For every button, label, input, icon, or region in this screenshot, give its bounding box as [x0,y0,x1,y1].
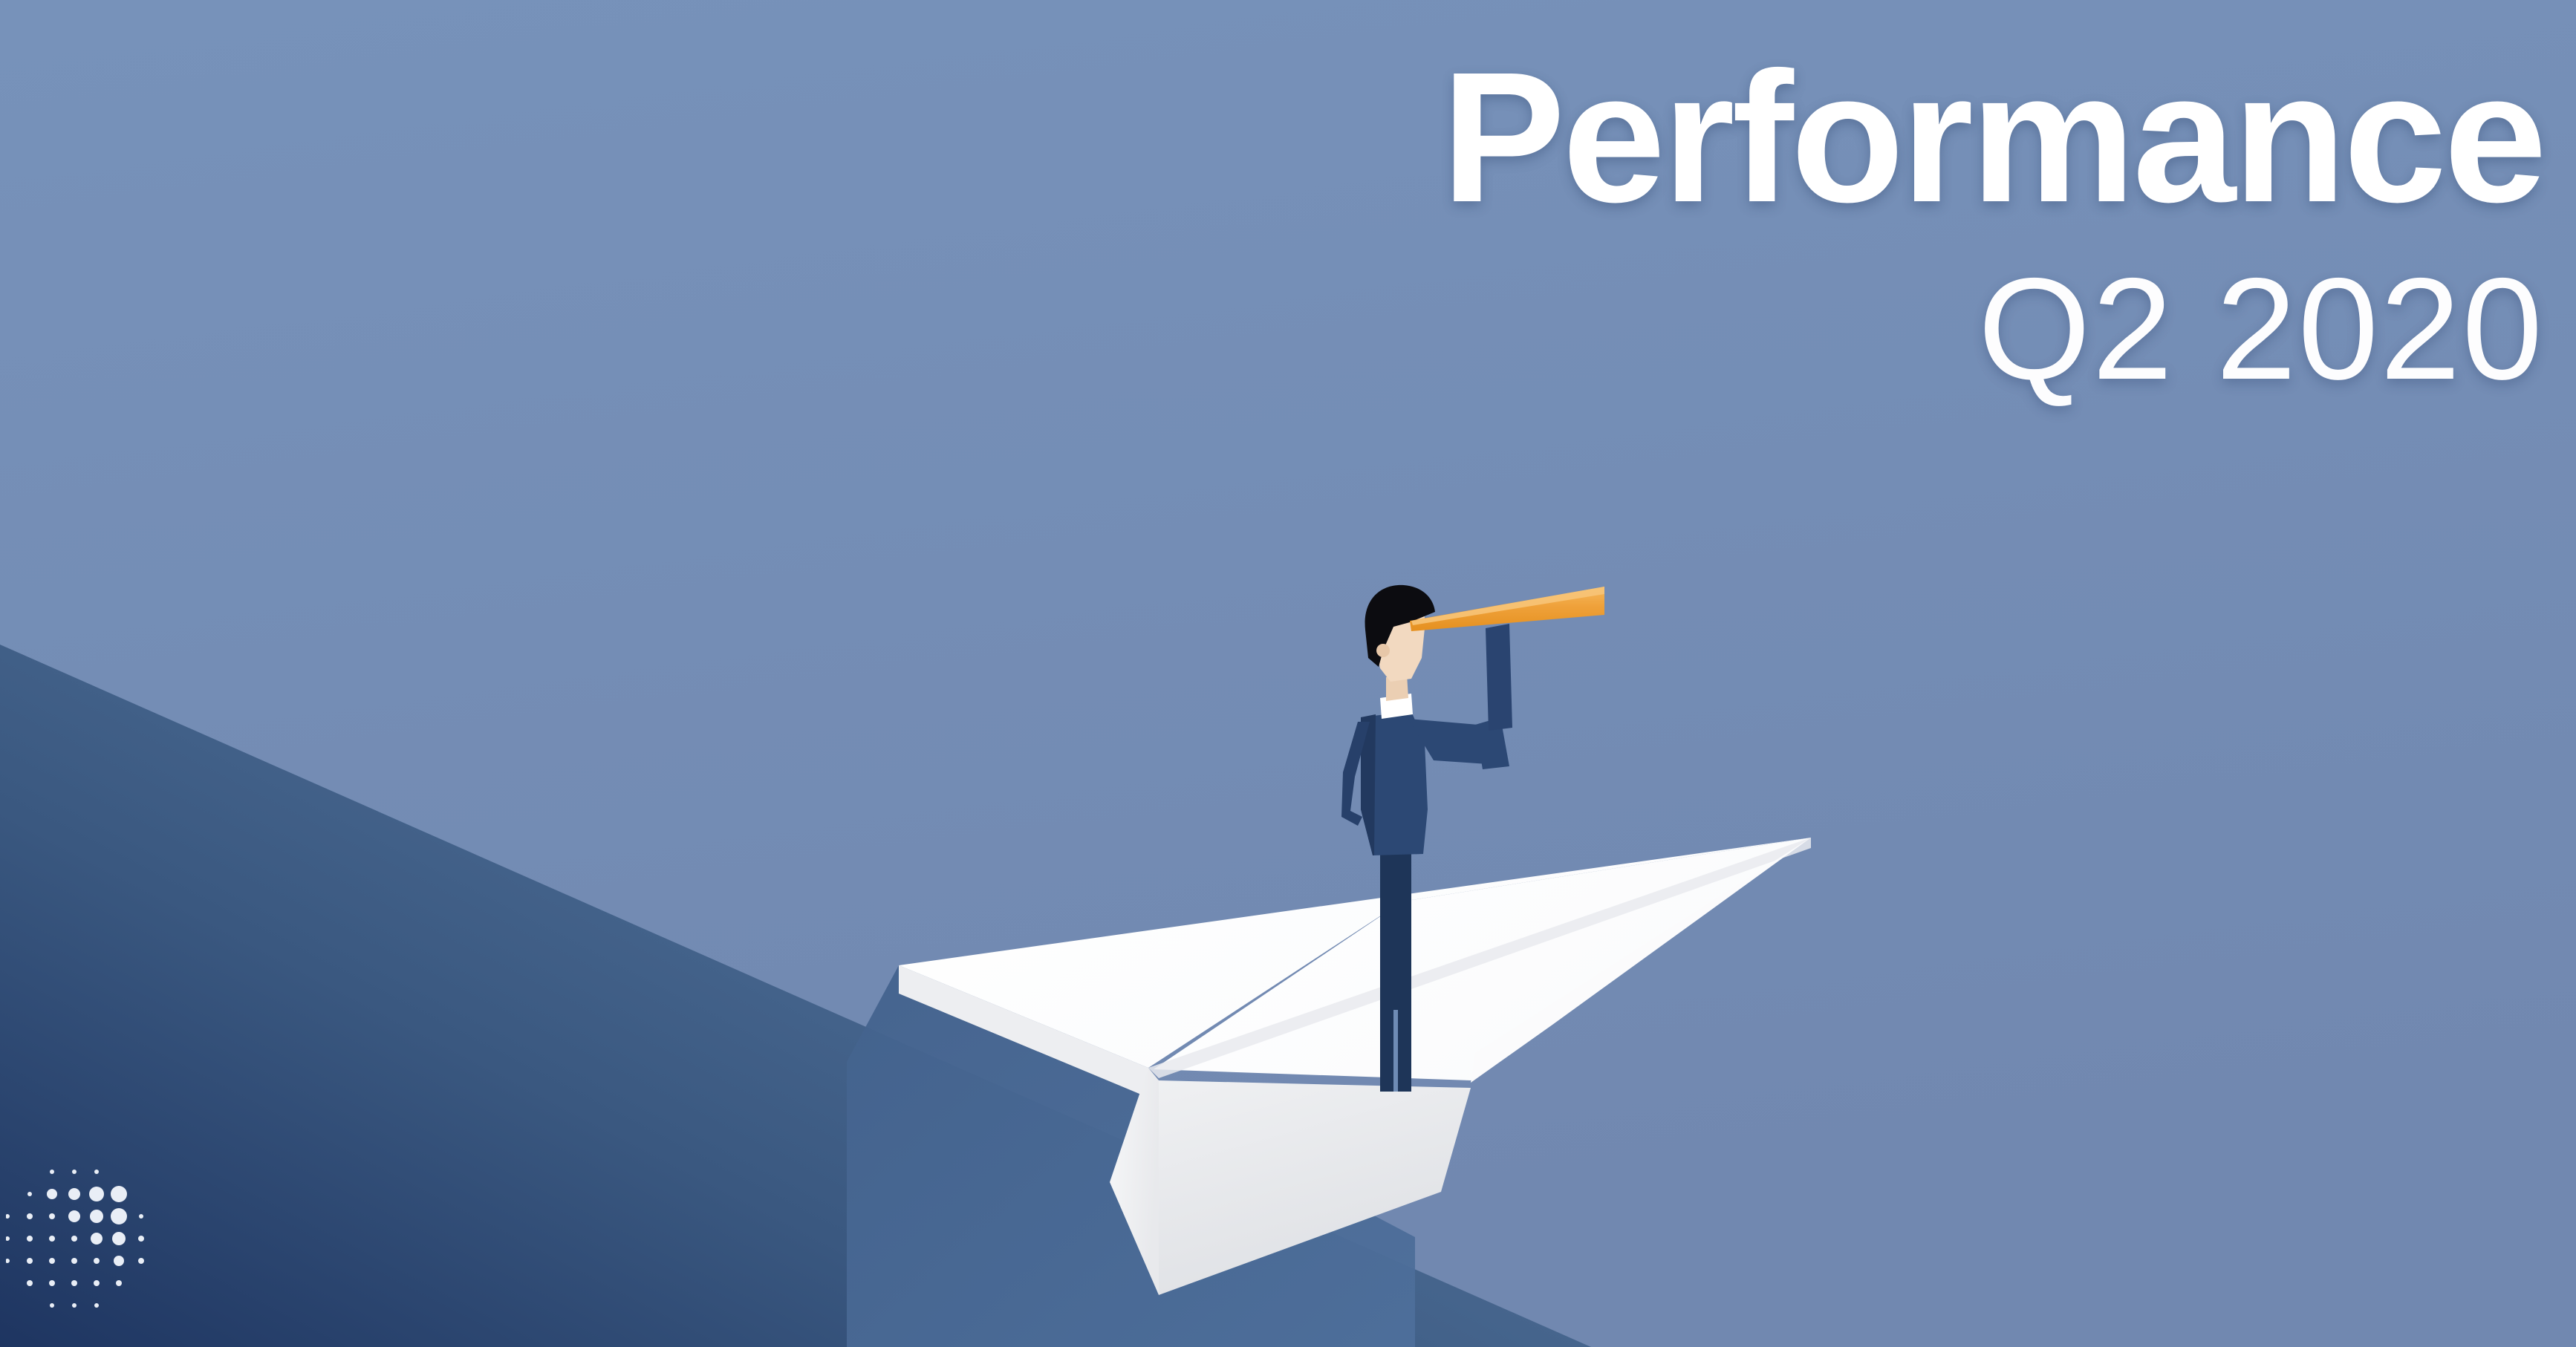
grid-dot [27,1280,33,1286]
grid-dot [49,1258,55,1264]
grid-dot [50,1170,54,1174]
figure-ear [1376,644,1390,657]
grid-dot [71,1258,77,1264]
decorative-dot-grid [6,1155,177,1326]
grid-dot [111,1208,127,1224]
page-title: Performance [1442,45,2544,230]
grid-dot [6,1214,10,1219]
grid-dot [112,1232,126,1245]
grid-dot [116,1280,122,1286]
presentation-slide: Performance Q2 2020 [0,0,2576,1347]
grid-dot [94,1303,99,1308]
grid-dot [71,1236,77,1242]
grid-dot [111,1186,127,1202]
grid-dot [94,1258,100,1264]
page-subtitle: Q2 2020 [1442,257,2544,402]
grid-dot [91,1233,103,1245]
grid-dot [72,1170,77,1174]
grid-dot [94,1170,99,1174]
grid-dot [114,1256,124,1266]
grid-dot [27,1258,33,1264]
grid-dot [90,1210,103,1223]
grid-dot [68,1188,80,1200]
grid-dot [27,1192,32,1196]
grid-dot [71,1280,77,1286]
slide-title-block: Performance Q2 2020 [1442,45,2544,402]
grid-dot [49,1236,55,1242]
grid-dot [6,1236,10,1241]
grid-dot [68,1210,80,1222]
grid-dot [139,1214,143,1219]
grid-dot [72,1303,77,1308]
figure-leg-split [1393,1010,1398,1092]
grid-dot [50,1303,54,1308]
grid-dot [49,1280,55,1286]
grid-dot [94,1280,100,1286]
grid-dot [138,1258,144,1264]
grid-dot [47,1189,57,1199]
figure-hand [1486,624,1512,731]
grid-dot [27,1236,33,1242]
grid-dot [27,1213,33,1219]
grid-dot [138,1236,144,1242]
grid-dot [6,1259,10,1263]
grid-dot [49,1213,55,1219]
grid-dot [89,1187,104,1201]
